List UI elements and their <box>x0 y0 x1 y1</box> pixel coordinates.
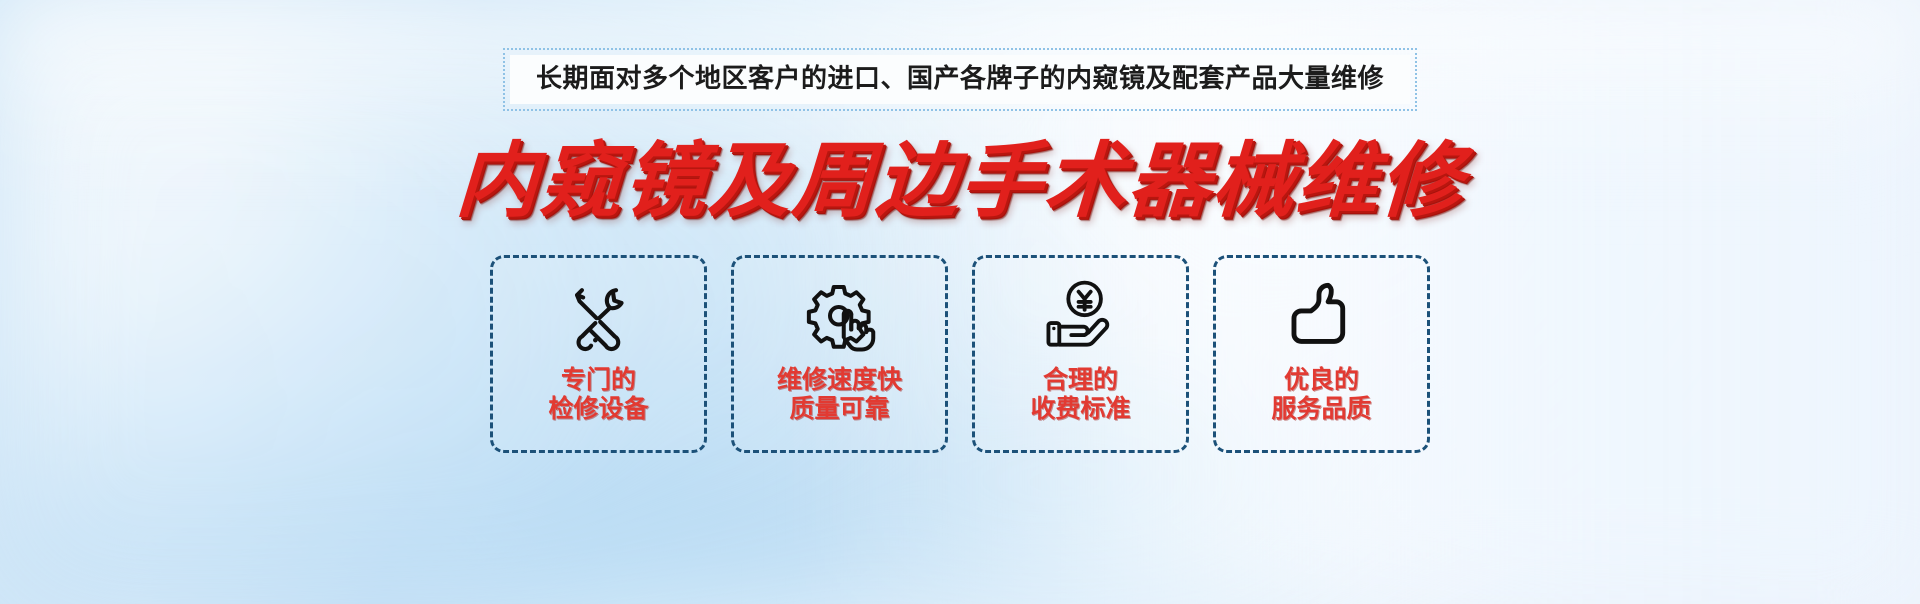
thumbs-up-icon <box>1283 274 1361 360</box>
gear-hand-click-icon <box>800 274 880 360</box>
feature-card-label: 专门的 检修设备 <box>548 366 648 425</box>
feature-card-quality[interactable]: 优良的 服务品质 <box>1213 255 1430 453</box>
tagline-text: 长期面对多个地区客户的进口、国产各牌子的内窥镜及配套产品大量维修 <box>536 64 1384 93</box>
feature-label-line1: 优良的 <box>1284 366 1359 394</box>
feature-card-label: 维修速度快 质量可靠 <box>777 366 902 425</box>
hand-holding-yuan-coin-icon <box>1040 274 1122 360</box>
feature-label-line1: 专门的 <box>561 366 636 394</box>
tagline-bar: 长期面对多个地区客户的进口、国产各牌子的内窥镜及配套产品大量维修 <box>510 55 1410 104</box>
feature-label-line1: 维修速度快 <box>777 366 902 394</box>
banner-content: 长期面对多个地区客户的进口、国产各牌子的内窥镜及配套产品大量维修 内窥镜及周边手… <box>0 0 1920 604</box>
feature-card-list: 专门的 检修设备 维修速度快 <box>490 255 1430 453</box>
feature-label-line2: 检修设备 <box>548 395 648 425</box>
screwdriver-wrench-icon <box>560 274 638 360</box>
promo-banner: 长期面对多个地区客户的进口、国产各牌子的内窥镜及配套产品大量维修 内窥镜及周边手… <box>0 0 1920 604</box>
feature-card-label: 优良的 服务品质 <box>1271 366 1371 425</box>
feature-card-label: 合理的 收费标准 <box>1030 366 1130 425</box>
feature-label-line2: 质量可靠 <box>777 395 902 425</box>
feature-card-speed[interactable]: 维修速度快 质量可靠 <box>731 255 948 453</box>
feature-card-equipment[interactable]: 专门的 检修设备 <box>490 255 707 453</box>
tagline-dotted-frame: 长期面对多个地区客户的进口、国产各牌子的内窥镜及配套产品大量维修 <box>503 48 1417 111</box>
feature-label-line2: 服务品质 <box>1271 395 1371 425</box>
feature-card-pricing[interactable]: 合理的 收费标准 <box>972 255 1189 453</box>
page-title: 内窥镜及周边手术器械维修 <box>454 141 1466 223</box>
feature-label-line2: 收费标准 <box>1030 395 1130 425</box>
feature-label-line1: 合理的 <box>1043 366 1118 394</box>
